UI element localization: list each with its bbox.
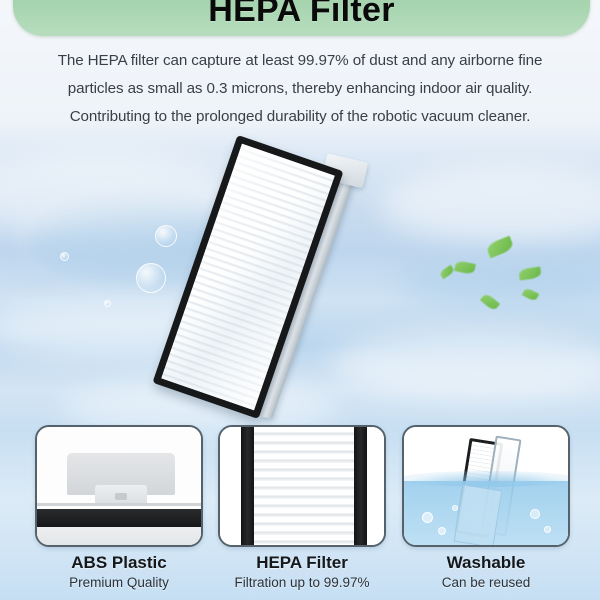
caption-title: Washable — [402, 552, 570, 573]
feature-card-washable — [402, 425, 570, 547]
abs-dark-band — [37, 509, 203, 527]
bubble-icon — [530, 509, 540, 519]
caption-subtitle: Can be reused — [402, 573, 570, 592]
caption-washable: Washable Can be reused — [402, 552, 570, 592]
caption-hepa-filter: HEPA Filter Filtration up to 99.97% — [218, 552, 386, 592]
description-line: The HEPA filter can capture at least 99.… — [0, 47, 600, 75]
abs-base-surface — [37, 527, 203, 547]
hero-product-image — [178, 128, 438, 428]
bubble-icon — [136, 263, 166, 293]
caption-subtitle: Premium Quality — [35, 573, 203, 592]
description-paragraph: The HEPA filter can capture at least 99.… — [0, 47, 600, 131]
bubble-icon — [155, 225, 177, 247]
feature-card-abs-plastic — [35, 425, 203, 547]
bubble-icon — [104, 300, 111, 307]
hepa-left-band — [241, 427, 254, 547]
header-banner: HEPA Filter — [13, 0, 590, 36]
caption-abs-plastic: ABS Plastic Premium Quality — [35, 552, 203, 592]
caption-title: ABS Plastic — [35, 552, 203, 573]
bubble-icon — [452, 505, 458, 511]
abs-plastic-detail — [115, 493, 127, 500]
bubble-icon — [422, 512, 433, 523]
description-line: Contributing to the prolonged durability… — [0, 103, 600, 131]
hepa-pleated-media — [254, 427, 354, 547]
abs-edge-line — [37, 503, 203, 506]
bubble-icon — [438, 527, 446, 535]
page-title: HEPA Filter — [208, 0, 395, 36]
hero-filter — [152, 135, 343, 419]
bubble-icon — [60, 252, 69, 261]
caption-subtitle: Filtration up to 99.97% — [218, 573, 386, 592]
bubble-icon — [544, 526, 551, 533]
feature-card-hepa-filter — [218, 425, 386, 547]
caption-title: HEPA Filter — [218, 552, 386, 573]
description-line: particles as small as 0.3 microns, there… — [0, 75, 600, 103]
hepa-right-band — [354, 427, 367, 547]
